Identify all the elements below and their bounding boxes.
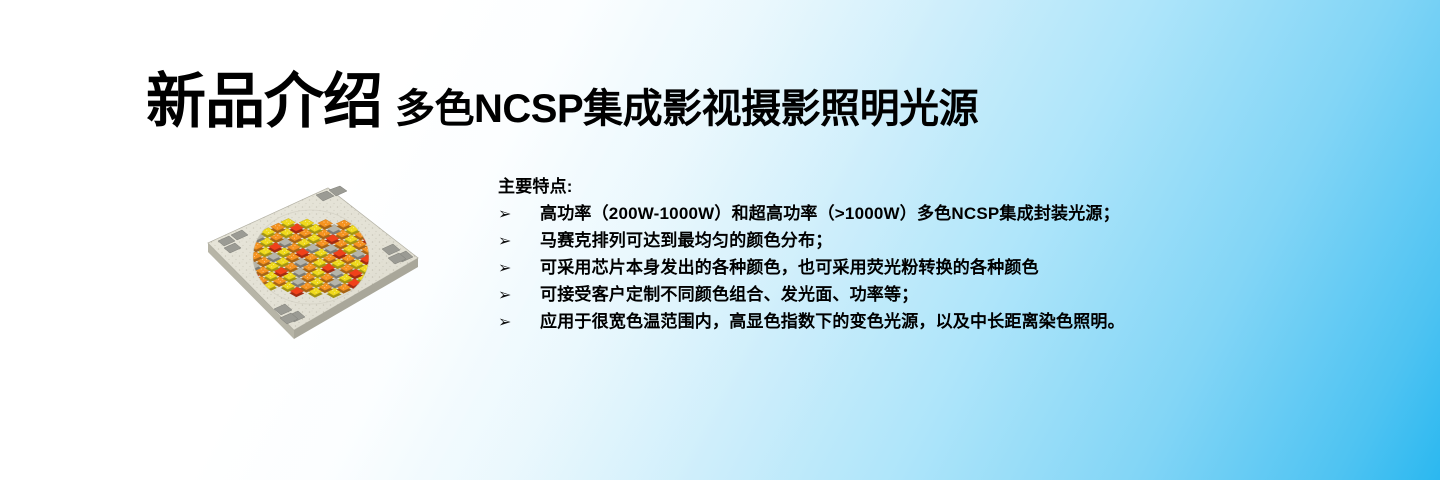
phosphor-speckle bbox=[321, 241, 322, 242]
phosphor-speckle bbox=[290, 274, 291, 275]
phosphor-speckle bbox=[264, 261, 265, 262]
phosphor-speckle bbox=[282, 250, 283, 251]
phosphor-speckle bbox=[294, 245, 295, 246]
phosphor-speckle bbox=[272, 274, 273, 275]
phosphor-speckle bbox=[340, 261, 341, 262]
phosphor-speckle bbox=[322, 260, 323, 261]
list-item-label: 应用于很宽色温范围内，高显色指数下的变色光源，以及中长距离染色照明。 bbox=[540, 308, 1125, 335]
phosphor-speckle bbox=[287, 286, 288, 287]
phosphor-speckle bbox=[290, 267, 291, 268]
phosphor-speckle bbox=[338, 263, 339, 264]
feature-list-heading: 主要特点: bbox=[498, 174, 1125, 200]
phosphor-speckle bbox=[287, 233, 288, 234]
phosphor-speckle bbox=[313, 238, 314, 239]
phosphor-speckle bbox=[323, 251, 324, 252]
phosphor-speckle bbox=[268, 232, 269, 233]
phosphor-speckle bbox=[350, 239, 351, 240]
phosphor-speckle bbox=[263, 271, 264, 272]
phosphor-speckle bbox=[286, 250, 287, 251]
phosphor-speckle bbox=[293, 255, 294, 256]
phosphor-speckle bbox=[273, 264, 274, 265]
phosphor-speckle bbox=[267, 242, 268, 243]
phosphor-speckle bbox=[265, 251, 266, 252]
phosphor-speckle bbox=[324, 234, 325, 235]
list-item-label: 可接受客户定制不同颜色组合、发光面、功率等； bbox=[540, 281, 918, 308]
phosphor-speckle bbox=[314, 228, 315, 229]
phosphor-speckle bbox=[339, 241, 340, 242]
phosphor-speckle bbox=[277, 227, 278, 228]
phosphor-speckle bbox=[334, 292, 335, 293]
phosphor-speckle bbox=[280, 281, 281, 282]
phosphor-speckle bbox=[271, 266, 272, 267]
phosphor-speckle bbox=[284, 252, 285, 253]
phosphor-speckle bbox=[289, 230, 290, 231]
phosphor-speckle bbox=[290, 221, 291, 222]
phosphor-speckle bbox=[309, 221, 310, 222]
phosphor-speckle bbox=[327, 275, 328, 276]
phosphor-speckle bbox=[349, 256, 350, 257]
title-subtitle-text: 多色NCSP集成影视摄影照明光源 bbox=[395, 89, 978, 129]
phosphor-speckle bbox=[309, 275, 310, 276]
title-main-text: 新品介绍 bbox=[146, 72, 382, 132]
phosphor-speckle bbox=[336, 290, 337, 291]
phosphor-speckle bbox=[326, 285, 327, 286]
phosphor-speckle bbox=[348, 249, 349, 250]
phosphor-speckle bbox=[353, 227, 354, 228]
list-item: ➢ 马赛克排列可达到最均匀的颜色分布； bbox=[498, 227, 1125, 254]
arrow-bullet-icon: ➢ bbox=[498, 227, 540, 254]
phosphor-speckle bbox=[319, 251, 320, 252]
phosphor-speckle bbox=[358, 242, 359, 243]
arrow-bullet-icon: ➢ bbox=[498, 200, 540, 227]
phosphor-speckle bbox=[346, 268, 347, 269]
phosphor-speckle bbox=[346, 222, 347, 223]
phosphor-speckle bbox=[355, 261, 356, 262]
list-item: ➢ 可采用芯片本身发出的各种颜色，也可采用荧光粉转换的各种颜色 bbox=[498, 254, 1125, 281]
phosphor-speckle bbox=[308, 267, 309, 268]
phosphor-speckle bbox=[305, 233, 306, 234]
phosphor-speckle bbox=[320, 270, 321, 271]
product-image-led-module bbox=[196, 170, 426, 365]
phosphor-speckle bbox=[316, 270, 317, 271]
list-item-label: 马赛克排列可达到最均匀的颜色分布； bbox=[540, 227, 832, 254]
list-item: ➢ 可接受客户定制不同颜色组合、发光面、功率等； bbox=[498, 281, 1125, 308]
phosphor-speckle bbox=[315, 280, 316, 281]
arrow-bullet-icon: ➢ bbox=[498, 254, 540, 281]
phosphor-speckle bbox=[266, 230, 267, 231]
phosphor-speckle bbox=[264, 269, 265, 270]
phosphor-speckle bbox=[343, 288, 344, 289]
phosphor-speckle bbox=[345, 285, 346, 286]
phosphor-speckle bbox=[269, 239, 270, 240]
phosphor-speckle bbox=[268, 286, 269, 287]
phosphor-speckle bbox=[261, 269, 262, 270]
phosphor-speckle bbox=[359, 261, 360, 262]
phosphor-speckle bbox=[352, 237, 353, 238]
phosphor-speckle bbox=[255, 246, 256, 247]
phosphor-speckle bbox=[346, 276, 347, 277]
phosphor-speckle bbox=[317, 289, 318, 290]
phosphor-speckle bbox=[317, 282, 318, 283]
arrow-bullet-icon: ➢ bbox=[498, 281, 540, 308]
phosphor-speckle bbox=[344, 278, 345, 279]
phosphor-speckle bbox=[283, 262, 284, 263]
phosphor-speckle bbox=[328, 258, 329, 259]
phosphor-speckle bbox=[325, 224, 326, 225]
list-item-label: 高功率（200W-1000W）和超高功率（>1000W）多色NCSP集成封装光源… bbox=[540, 200, 1120, 227]
phosphor-speckle bbox=[312, 255, 313, 256]
phosphor-speckle bbox=[265, 239, 266, 240]
phosphor-speckle bbox=[270, 276, 271, 277]
phosphor-speckle bbox=[307, 284, 308, 285]
phosphor-speckle bbox=[323, 222, 324, 223]
phosphor-speckle bbox=[341, 244, 342, 245]
phosphor-speckle bbox=[341, 232, 342, 233]
phosphor-speckle bbox=[364, 269, 365, 270]
phosphor-speckle bbox=[350, 247, 351, 248]
phosphor-speckle bbox=[344, 224, 345, 225]
phosphor-speckle bbox=[347, 266, 348, 267]
phosphor-speckle bbox=[302, 240, 303, 241]
phosphor-speckle bbox=[284, 259, 285, 260]
phosphor-speckle bbox=[343, 234, 344, 235]
phosphor-speckle bbox=[319, 280, 320, 281]
phosphor-speckle bbox=[367, 249, 368, 250]
phosphor-speckle bbox=[330, 256, 331, 257]
phosphor-speckle bbox=[307, 231, 308, 232]
phosphor-speckle bbox=[292, 264, 293, 265]
phosphor-speckle bbox=[324, 287, 325, 288]
phosphor-speckle bbox=[263, 249, 264, 250]
phosphor-speckle bbox=[360, 244, 361, 245]
phosphor-speckle bbox=[344, 232, 345, 233]
phosphor-speckle bbox=[322, 231, 323, 232]
phosphor-speckle bbox=[323, 243, 324, 244]
list-item: ➢ 高功率（200W-1000W）和超高功率（>1000W）多色NCSP集成封装… bbox=[498, 200, 1125, 227]
phosphor-speckle bbox=[278, 279, 279, 280]
list-item: ➢ 应用于很宽色温范围内，高显色指数下的变色光源，以及中长距离染色照明。 bbox=[498, 308, 1125, 335]
phosphor-speckle bbox=[275, 225, 276, 226]
feature-list: 主要特点: ➢ 高功率（200W-1000W）和超高功率（>1000W）多色NC… bbox=[498, 174, 1125, 335]
phosphor-speckle bbox=[254, 256, 255, 257]
phosphor-speckle bbox=[314, 236, 315, 237]
phosphor-speckle bbox=[266, 259, 267, 260]
phosphor-speckle bbox=[326, 277, 327, 278]
phosphor-speckle bbox=[307, 223, 308, 224]
phosphor-speckle bbox=[270, 230, 271, 231]
phosphor-speckle bbox=[289, 284, 290, 285]
phosphor-speckle bbox=[357, 264, 358, 265]
phosphor-speckle bbox=[343, 241, 344, 242]
phosphor-speckle bbox=[347, 259, 348, 260]
phosphor-speckle bbox=[262, 259, 263, 260]
phosphor-speckle bbox=[305, 221, 306, 222]
phosphor-speckle bbox=[270, 283, 271, 284]
phosphor-speckle bbox=[267, 249, 268, 250]
phosphor-speckle bbox=[257, 244, 258, 245]
phosphor-speckle bbox=[342, 222, 343, 223]
phosphor-speckle bbox=[318, 272, 319, 273]
phosphor-speckle bbox=[303, 231, 304, 232]
phosphor-speckle bbox=[310, 265, 311, 266]
arrow-bullet-icon: ➢ bbox=[498, 308, 540, 335]
phosphor-speckle bbox=[306, 287, 307, 288]
list-item-label: 可采用芯片本身发出的各种颜色，也可采用荧光粉转换的各种颜色 bbox=[540, 254, 1039, 281]
phosphor-speckle bbox=[279, 225, 280, 226]
page-title: 新品介绍 多色NCSP集成影视摄影照明光源 bbox=[146, 72, 978, 132]
phosphor-speckle bbox=[286, 221, 287, 222]
phosphor-speckle bbox=[320, 263, 321, 264]
phosphor-speckle bbox=[304, 243, 305, 244]
phosphor-speckle bbox=[318, 260, 319, 261]
phosphor-speckle bbox=[285, 230, 286, 231]
phosphor-speckle bbox=[275, 237, 276, 238]
phosphor-speckle bbox=[316, 292, 317, 293]
phosphor-speckle bbox=[263, 278, 264, 279]
phosphor-speckle bbox=[277, 235, 278, 236]
led-module-illustration bbox=[196, 170, 426, 365]
phosphor-speckle bbox=[332, 290, 333, 291]
phosphor-speckle bbox=[314, 289, 315, 290]
phosphor-speckle bbox=[281, 259, 282, 260]
phosphor-speckle bbox=[316, 226, 317, 227]
phosphor-speckle bbox=[291, 257, 292, 258]
phosphor-speckle bbox=[307, 277, 308, 278]
phosphor-speckle bbox=[256, 254, 257, 255]
phosphor-speckle bbox=[366, 266, 367, 267]
phosphor-speckle bbox=[351, 229, 352, 230]
phosphor-speckle bbox=[326, 231, 327, 232]
phosphor-speckle bbox=[293, 247, 294, 248]
phosphor-speckle bbox=[288, 276, 289, 277]
phosphor-speckle bbox=[288, 223, 289, 224]
phosphor-speckle bbox=[310, 258, 311, 259]
phosphor-speckle bbox=[282, 279, 283, 280]
phosphor-speckle bbox=[294, 238, 295, 239]
phosphor-speckle bbox=[327, 222, 328, 223]
phosphor-speckle bbox=[324, 241, 325, 242]
phosphor-speckle bbox=[336, 261, 337, 262]
phosphor-speckle bbox=[321, 253, 322, 254]
phosphor-speckle bbox=[296, 235, 297, 236]
phosphor-speckle bbox=[362, 242, 363, 243]
phosphor-speckle bbox=[306, 240, 307, 241]
slide-canvas: 新品介绍 多色NCSP集成影视摄影照明光源 bbox=[0, 0, 1440, 480]
